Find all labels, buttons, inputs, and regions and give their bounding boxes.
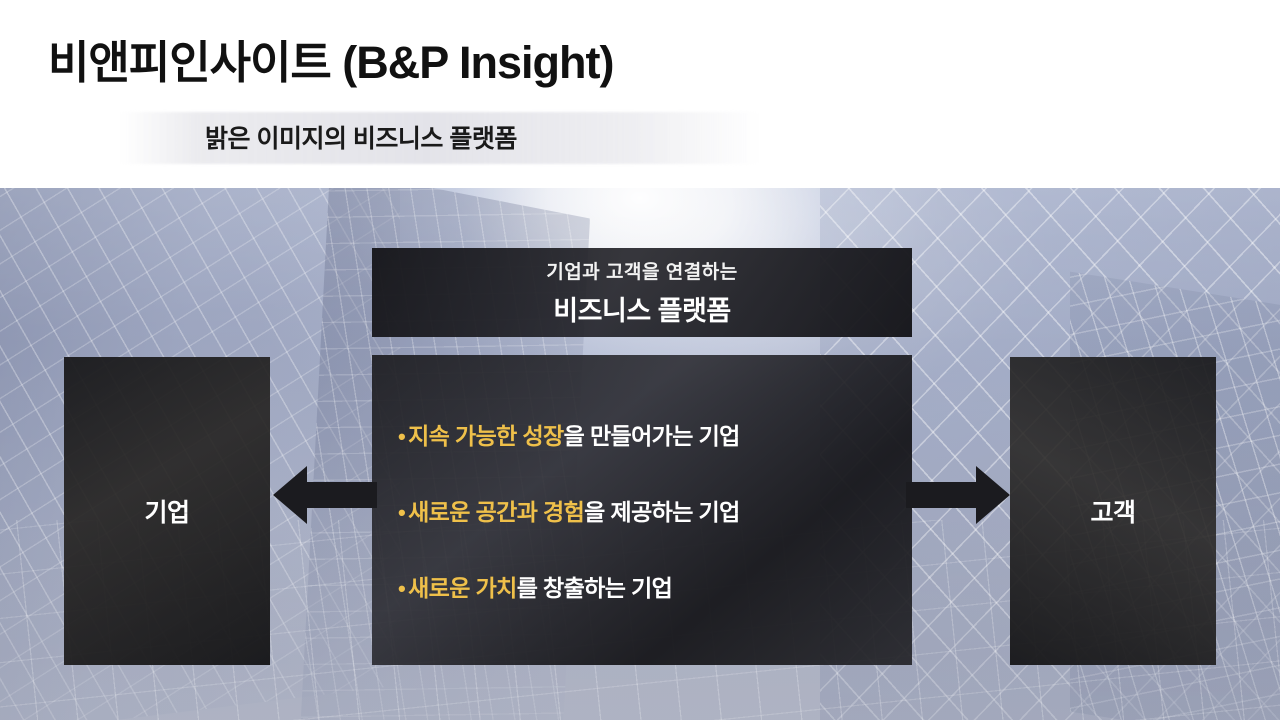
bullet-dot-icon: • [398,576,405,602]
node-right-label: 고객 [1090,493,1135,529]
bullet-text: 을 만들어가는 기업 [564,417,740,451]
bullet-text: 를 창출하는 기업 [517,569,673,603]
node-right-customer: 고객 [1010,357,1216,665]
headline-panel: 기업과 고객을 연결하는 비즈니스 플랫폼 [372,248,912,337]
page-subtitle: 밝은 이미지의 비즈니스 플랫폼 [205,119,517,155]
background-photo: 기업과 고객을 연결하는 비즈니스 플랫폼 • 지속 가능한 성장 을 만들어가… [0,188,1280,720]
list-item: • 새로운 공간과 경험 을 제공하는 기업 [398,493,912,527]
bullet-text: 을 제공하는 기업 [584,493,740,527]
bullet-highlight: 지속 가능한 성장 [408,417,564,451]
slide: 비앤피인사이트 (B&P Insight) 밝은 이미지의 비즈니스 플랫폼 기… [0,0,1280,720]
node-left-enterprise: 기업 [64,357,270,665]
bullet-dot-icon: • [398,500,405,526]
bullet-highlight: 새로운 공간과 경험 [408,493,584,527]
headline-line-2: 비즈니스 플랫폼 [553,289,730,328]
headline-line-1: 기업과 고객을 연결하는 [546,257,737,284]
bullet-dot-icon: • [398,424,405,450]
slide-header: 비앤피인사이트 (B&P Insight) 밝은 이미지의 비즈니스 플랫폼 [0,0,1280,188]
list-item: • 새로운 가치 를 창출하는 기업 [398,569,912,603]
list-item: • 지속 가능한 성장 을 만들어가는 기업 [398,417,912,451]
node-left-label: 기업 [144,493,189,529]
bullet-panel: • 지속 가능한 성장 을 만들어가는 기업 • 새로운 공간과 경험 을 제공… [372,355,912,665]
page-title: 비앤피인사이트 (B&P Insight) [48,26,613,91]
bullet-highlight: 새로운 가치 [408,569,517,603]
